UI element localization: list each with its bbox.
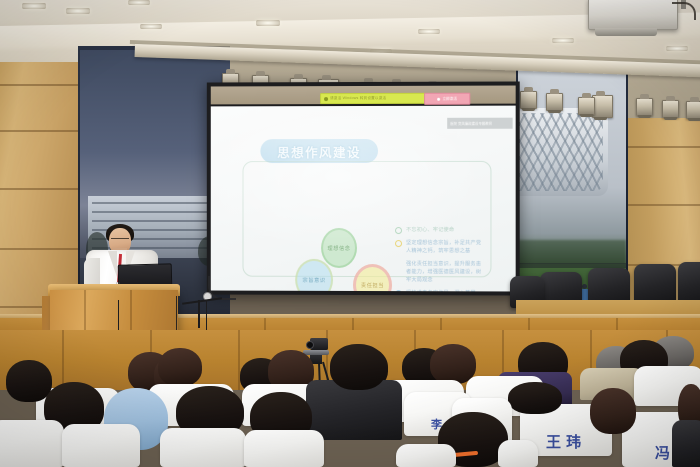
downlight — [128, 0, 150, 5]
bullet-marker-icon — [395, 227, 402, 234]
bullet-text: 坚定理想信念宗旨，补足共产党人精神之钙，筑牢思想之基 — [406, 239, 484, 255]
circle-right-label: 责任担当 — [361, 281, 384, 288]
ceiling-projector — [588, 0, 678, 30]
stage-light — [546, 93, 563, 111]
projector-cable — [672, 2, 696, 20]
backdrop-stadium-shape — [518, 108, 608, 196]
slide-content-frame: 理想信念 宗旨意识 责任担当 求真务实 不忘初心、牢记使命 — [242, 161, 491, 277]
tripod-quick-plate — [303, 350, 329, 355]
seat-cover — [160, 428, 246, 467]
diagram-circle-right: 责任担当 — [353, 264, 392, 292]
seat-name-tag: 王玮 — [546, 431, 586, 452]
auditorium-scene: 请激活 Windows 转到设置以激活 立即激活 医院 党风廉政建设专题教育 思… — [0, 0, 700, 467]
notification-icon — [324, 97, 328, 101]
bullet-item: 坚定理想信念宗旨，补足共产党人精神之钙，筑牢思想之基 — [395, 239, 484, 255]
notification-message: 请激活 Windows 转到设置以激活 — [330, 96, 386, 101]
audience-head — [330, 344, 386, 390]
bullet-item: 坚持求真务实作风，深入基层一线，切实解决群众看病就医的实际困难 — [395, 289, 484, 291]
stage-light — [686, 101, 700, 119]
slide-title-text: 思想作风建设 — [277, 142, 361, 161]
slide-title-pill: 思想作风建设 — [260, 139, 378, 163]
bullet-text: 强化责任担当意识，提升服务患者能力，增强医德医风建设，树牢大局观念 — [406, 260, 484, 284]
bullet-marker-icon — [395, 290, 402, 291]
circle-top-label: 理想信念 — [327, 244, 350, 251]
downlight — [140, 24, 162, 29]
slide-corner-label-text: 医院 党风廉政建设专题教育 — [450, 121, 492, 126]
screen-top-strip: 请激活 Windows 转到设置以激活 立即激活 — [211, 86, 516, 105]
stage-light — [662, 100, 679, 118]
audience-person-dark — [672, 420, 700, 467]
microphone-stand — [198, 300, 200, 328]
stage-light — [636, 98, 653, 116]
bullet-marker-icon — [395, 240, 402, 247]
stage-chair — [678, 262, 700, 304]
speaker-glasses — [111, 238, 129, 244]
downlight — [22, 3, 46, 9]
audience-head — [508, 382, 562, 414]
activate-button-label: 立即激活 — [442, 96, 456, 101]
downlight — [552, 38, 574, 43]
circle-left-label: 宗旨意识 — [303, 276, 326, 283]
downlight — [418, 29, 440, 34]
windows-activation-notification[interactable]: 请激活 Windows 转到设置以激活 立即激活 — [320, 93, 427, 104]
activate-button[interactable]: 立即激活 — [424, 93, 470, 105]
diagram-circle-top: 理想信念 — [321, 228, 357, 268]
stage-light — [578, 97, 595, 115]
audience-head — [6, 360, 52, 402]
bullet-item: 强化责任担当意识，提升服务患者能力，增强医德医风建设，树牢大局观念 — [395, 260, 484, 284]
seat-cover — [0, 420, 64, 467]
bullet-item: 不忘初心、牢记使命 — [395, 226, 484, 234]
screen-hanging-cable — [208, 276, 236, 300]
seat-cover — [396, 444, 456, 467]
audience-head — [590, 388, 636, 434]
projection-screen: 请激活 Windows 转到设置以激活 立即激活 医院 党风廉政建设专题教育 思… — [207, 81, 520, 295]
activate-icon — [437, 97, 440, 100]
stage-light — [592, 95, 613, 118]
slide-bullet-list: 不忘初心、牢记使命 坚定理想信念宗旨，补足共产党人精神之钙，筑牢思想之基 强化责… — [395, 226, 484, 291]
bullet-text: 不忘初心、牢记使命 — [406, 226, 454, 234]
seat-cover — [244, 430, 324, 467]
slide-corner-label: 医院 党风廉政建设专题教育 — [447, 118, 512, 129]
camera-lens-icon — [306, 341, 314, 349]
downlight — [66, 8, 90, 14]
seat-cover — [498, 440, 538, 467]
stage-light — [520, 91, 537, 109]
audience-head — [158, 348, 202, 386]
bullet-text: 坚持求真务实作风，深入基层一线，切实解决群众看病就医的实际困难 — [406, 289, 484, 291]
downlight — [256, 20, 280, 26]
seat-cover — [62, 424, 140, 467]
downlight — [666, 46, 688, 51]
coat-lapel-left — [108, 251, 117, 277]
stage-chair — [634, 264, 676, 304]
slide-canvas: 医院 党风廉政建设专题教育 思想作风建设 理想信念 宗旨意识 责任担当 求真务实 — [211, 106, 516, 292]
